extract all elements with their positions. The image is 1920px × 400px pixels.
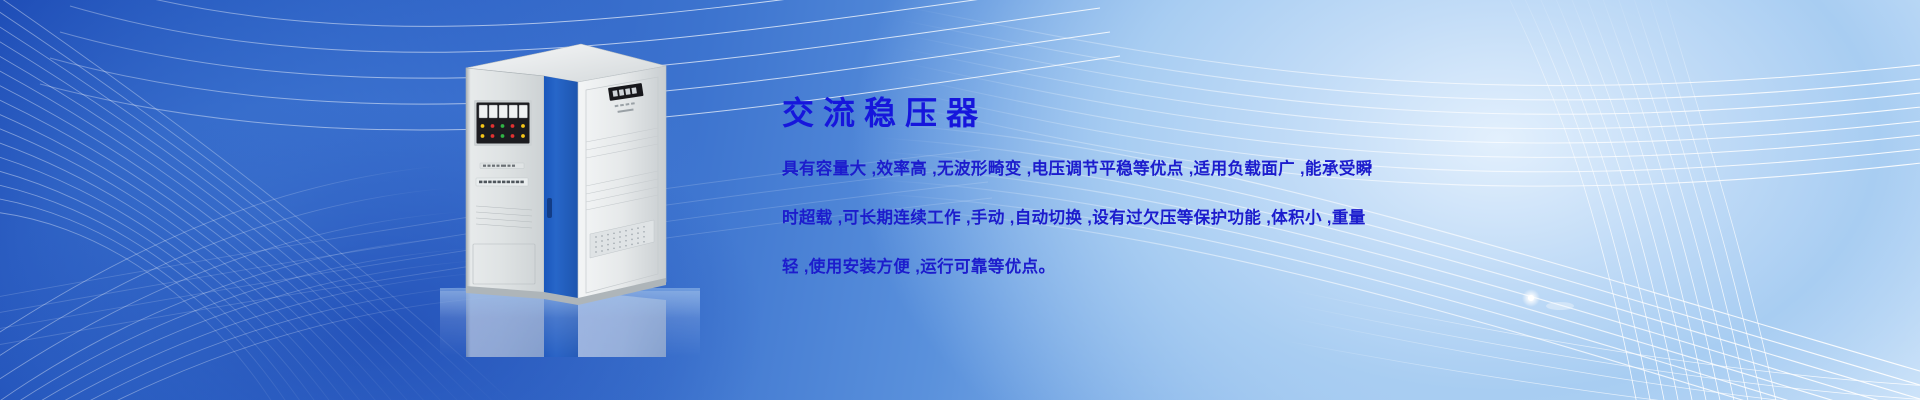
description-line-3: 轻 ,使用安装方便 ,运行可靠等优点。 [782, 251, 1482, 283]
cabinet-blue-door [544, 76, 578, 302]
page-title: 交流稳压器 [782, 96, 1482, 131]
product-banner: 交流稳压器 具有容量大 ,效率高 ,无波形畸变 ,电压调节平稳等优点 ,适用负载… [0, 0, 1920, 400]
panel-gauges [479, 105, 528, 118]
description-line-2: 时超载 ,可长期连续工作 ,手动 ,自动切换 ,设有过欠压等保护功能 ,体积小 … [782, 202, 1482, 234]
cabinet-side-panel [578, 66, 666, 302]
cabinet-door-handle [547, 198, 552, 218]
product-image-voltage-stabilizer [440, 38, 700, 358]
description-line-1: 具有容量大 ,效率高 ,无波形畸变 ,电压调节平稳等优点 ,适用负载面广 ,能承… [782, 153, 1482, 185]
control-panel [474, 100, 532, 146]
banner-copy: 交流稳压器 具有容量大 ,效率高 ,无波形畸变 ,电压调节平稳等优点 ,适用负载… [782, 96, 1482, 299]
